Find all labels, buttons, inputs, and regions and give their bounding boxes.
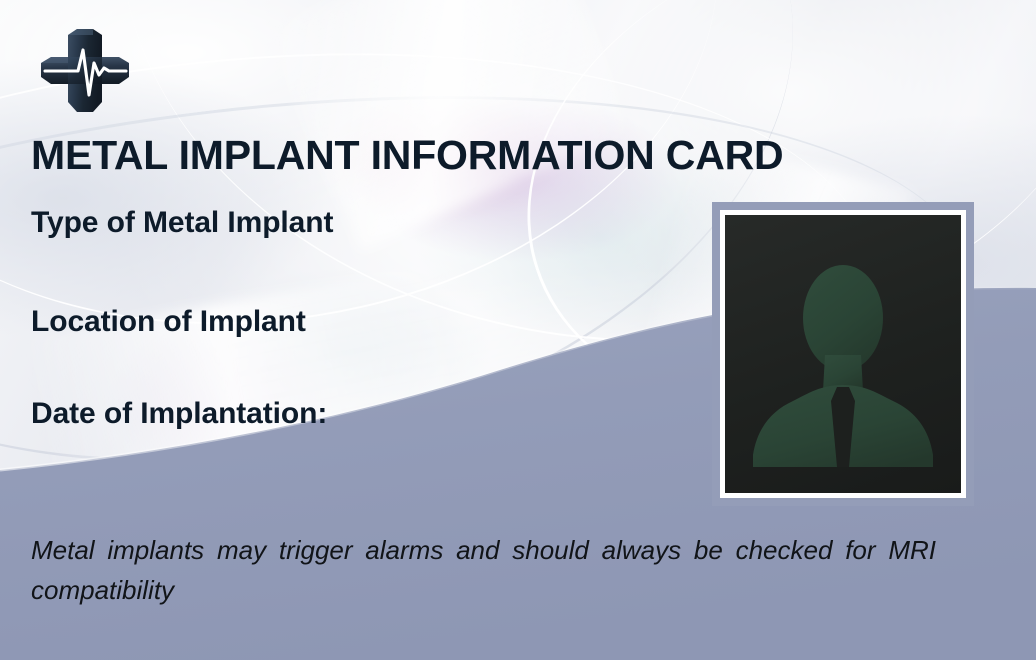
field-label-type-of-metal-implant: Type of Metal Implant [31,206,333,240]
photo-frame [712,202,974,506]
portrait-placeholder-image [725,215,961,493]
field-label-date-of-implantation: Date of Implantation: [31,397,327,431]
medical-cross-heartbeat-icon [31,27,139,117]
page-title: METAL IMPLANT INFORMATION CARD [31,132,783,179]
metal-implant-information-card: METAL IMPLANT INFORMATION CARD Type of M… [0,0,1036,660]
field-label-location-of-implant: Location of Implant [31,305,306,339]
photo-mat [720,210,966,498]
mri-compatibility-note: Metal implants may trigger alarms and sh… [31,530,936,611]
